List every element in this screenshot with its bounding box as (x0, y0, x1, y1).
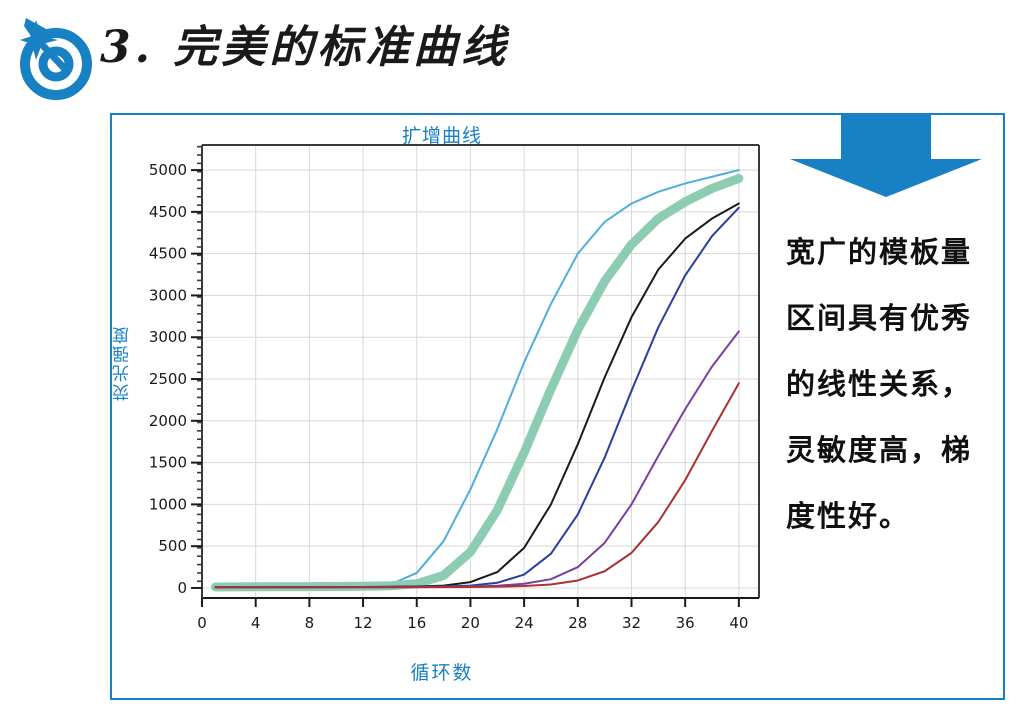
y-tick-label: 1000 (149, 495, 187, 513)
x-tick-label: 40 (729, 614, 748, 632)
down-arrow-icon (786, 114, 986, 198)
x-axis-label: 循环数 (112, 658, 772, 685)
y-tick-label: 1500 (149, 454, 187, 472)
y-tick-label: 0 (177, 579, 187, 597)
x-tick-label: 16 (407, 614, 426, 632)
y-tick-label: 5000 (149, 161, 187, 179)
x-tick-label: 12 (354, 614, 373, 632)
x-tick-label: 8 (305, 614, 315, 632)
x-tick-label: 32 (622, 614, 641, 632)
x-tick-label: 4 (251, 614, 261, 632)
annotation-panel: 宽广的模板量区间具有优秀的线性关系，灵敏度高，梯度性好。 (772, 115, 1003, 698)
y-tick-label: 3000 (149, 286, 187, 304)
page-header: 3. 完美的标准曲线 (0, 0, 1027, 108)
page-title: 3. 完美的标准曲线 (100, 18, 509, 78)
y-tick-label: 2500 (149, 370, 187, 388)
content-frame: 扩增曲线 荧光强度 050010001500200025003000300045… (110, 113, 1005, 700)
amplification-chart: 扩增曲线 荧光强度 050010001500200025003000300045… (112, 115, 772, 698)
x-tick-label: 0 (197, 614, 207, 632)
y-tick-label: 4500 (149, 203, 187, 221)
x-tick-label: 28 (568, 614, 587, 632)
y-tick-label: 3000 (149, 328, 187, 346)
x-tick-label: 36 (676, 614, 695, 632)
x-tick-label: 20 (461, 614, 480, 632)
annotation-caption: 宽广的模板量区间具有优秀的线性关系，灵敏度高，梯度性好。 (778, 219, 1000, 549)
y-axis-label: 荧光强度 (110, 325, 138, 401)
chart-plot-area: 0500100015002000250030003000450045005000… (142, 141, 767, 656)
target-bullseye-arrow-icon (8, 12, 100, 100)
y-tick-label: 4500 (149, 245, 187, 263)
y-tick-label: 2000 (149, 412, 187, 430)
y-tick-label: 500 (158, 537, 187, 555)
x-tick-label: 24 (515, 614, 534, 632)
